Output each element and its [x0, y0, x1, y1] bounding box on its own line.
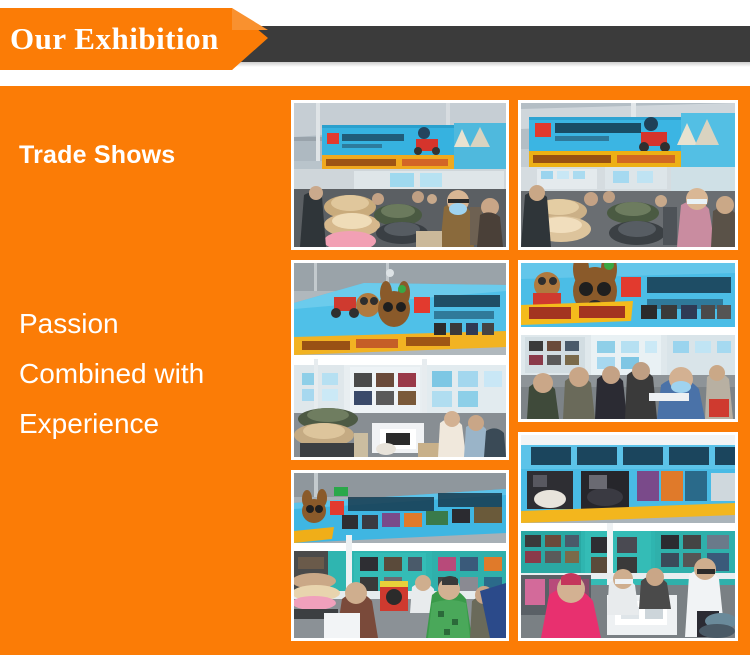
- tagline: Passion Combined with Experience: [19, 299, 274, 449]
- header-dark-bar-shadow: [195, 62, 750, 67]
- exhibition-page: Our Exhibition Trade Shows Passion Combi…: [0, 0, 750, 672]
- content-panel: Trade Shows Passion Combined with Experi…: [0, 86, 750, 655]
- gallery-photo-6[interactable]: [291, 470, 509, 641]
- photo-image-2: [521, 103, 735, 247]
- gallery-photo-5[interactable]: [518, 432, 738, 641]
- gallery-photo-4[interactable]: [518, 260, 738, 422]
- photo-image-4: [521, 263, 735, 419]
- photo-image-3: [294, 263, 506, 457]
- tagline-line-2: Combined with: [19, 349, 274, 399]
- panel-left-column: Trade Shows Passion Combined with Experi…: [0, 86, 288, 655]
- gallery-photo-3[interactable]: [291, 260, 509, 460]
- photo-image-6: [294, 473, 506, 638]
- gallery-photo-2[interactable]: [518, 100, 738, 250]
- header-dark-bar: [195, 26, 750, 62]
- page-header: Our Exhibition: [0, 0, 750, 86]
- photo-image-1: [294, 103, 506, 247]
- tagline-line-3: Experience: [19, 399, 274, 449]
- photo-gallery: [288, 100, 738, 641]
- section-heading: Trade Shows: [19, 141, 175, 170]
- gallery-photo-1[interactable]: [291, 100, 509, 250]
- page-title: Our Exhibition: [10, 13, 235, 65]
- tagline-line-1: Passion: [19, 299, 274, 349]
- photo-image-5: [521, 435, 735, 638]
